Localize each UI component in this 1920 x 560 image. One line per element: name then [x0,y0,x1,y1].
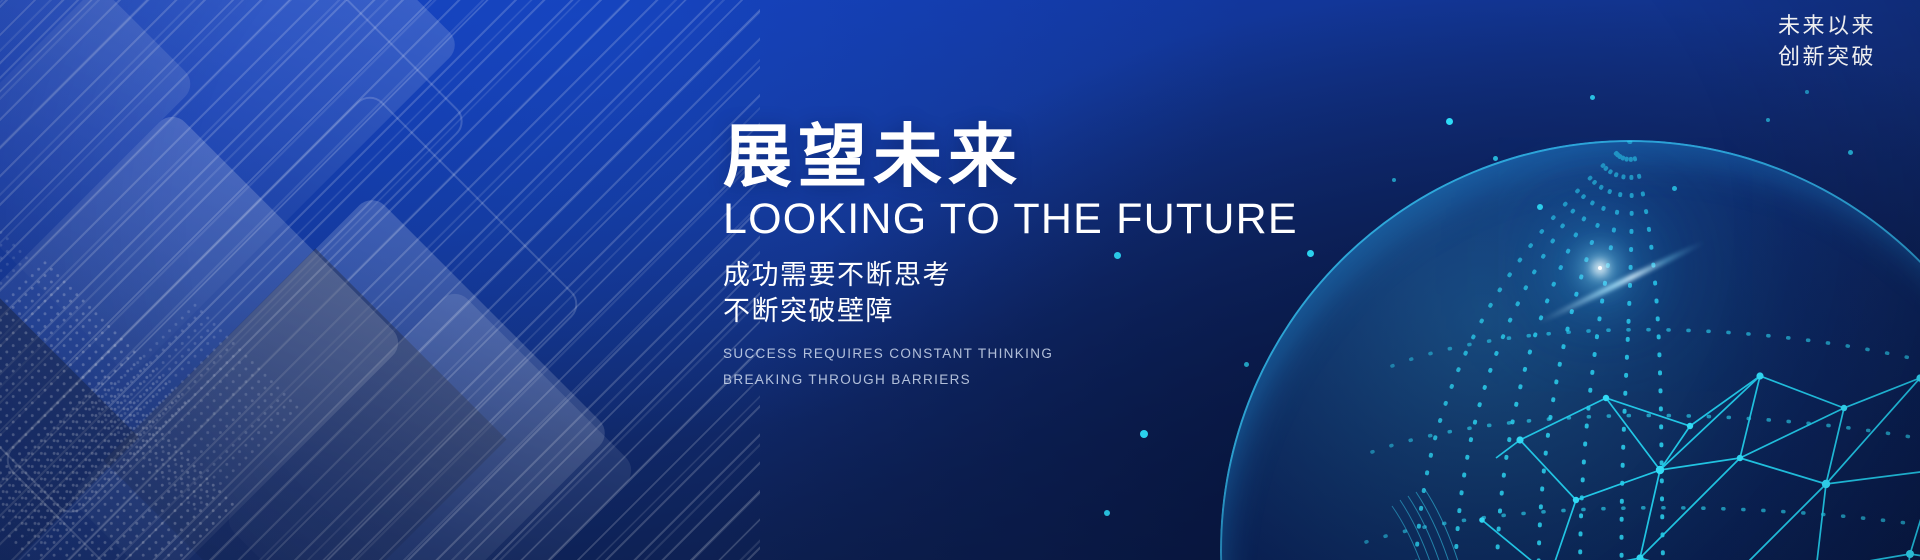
sparkle-dot [1140,430,1148,438]
subheadline-chinese-line2: 不断突破壁障 [723,293,1283,329]
sparkle-dot [1766,118,1770,122]
limb-light-flare-icon [1598,266,1602,270]
globe-wireframe-svg [1220,140,1920,560]
sparkle-dot [1537,204,1543,210]
sparkle-dot [1493,156,1498,161]
left-geometric-decoration [0,0,760,560]
sparkle-dot [1805,90,1809,94]
sparkle-dot [1590,95,1595,100]
sparkle-dot [1104,510,1110,516]
subheadline-chinese-line1: 成功需要不断思考 [723,257,1283,293]
sparkle-dot [1848,150,1853,155]
network-globe [1220,140,1920,560]
headline-block: 展望未来 LOOKING TO THE FUTURE 成功需要不断思考 不断突破… [723,122,1283,393]
subheadline-english-line1: SUCCESS REQUIRES CONSTANT THINKING [723,341,1283,367]
subheadline-english-line2: BREAKING THROUGH BARRIERS [723,367,1283,393]
hero-banner: 展望未来 LOOKING TO THE FUTURE 成功需要不断思考 不断突破… [0,0,1920,560]
corner-tagline: 未来以来 创新突破 [1778,10,1876,72]
sparkle-dot [1392,178,1396,182]
corner-tagline-line1: 未来以来 [1778,10,1876,41]
sparkle-dot [1446,118,1453,125]
sparkle-dot [1307,250,1314,257]
headline-english: LOOKING TO THE FUTURE [723,195,1283,243]
sparkle-dot [1672,186,1677,191]
corner-tagline-line2: 创新突破 [1778,41,1876,72]
headline-chinese: 展望未来 [723,122,1283,191]
